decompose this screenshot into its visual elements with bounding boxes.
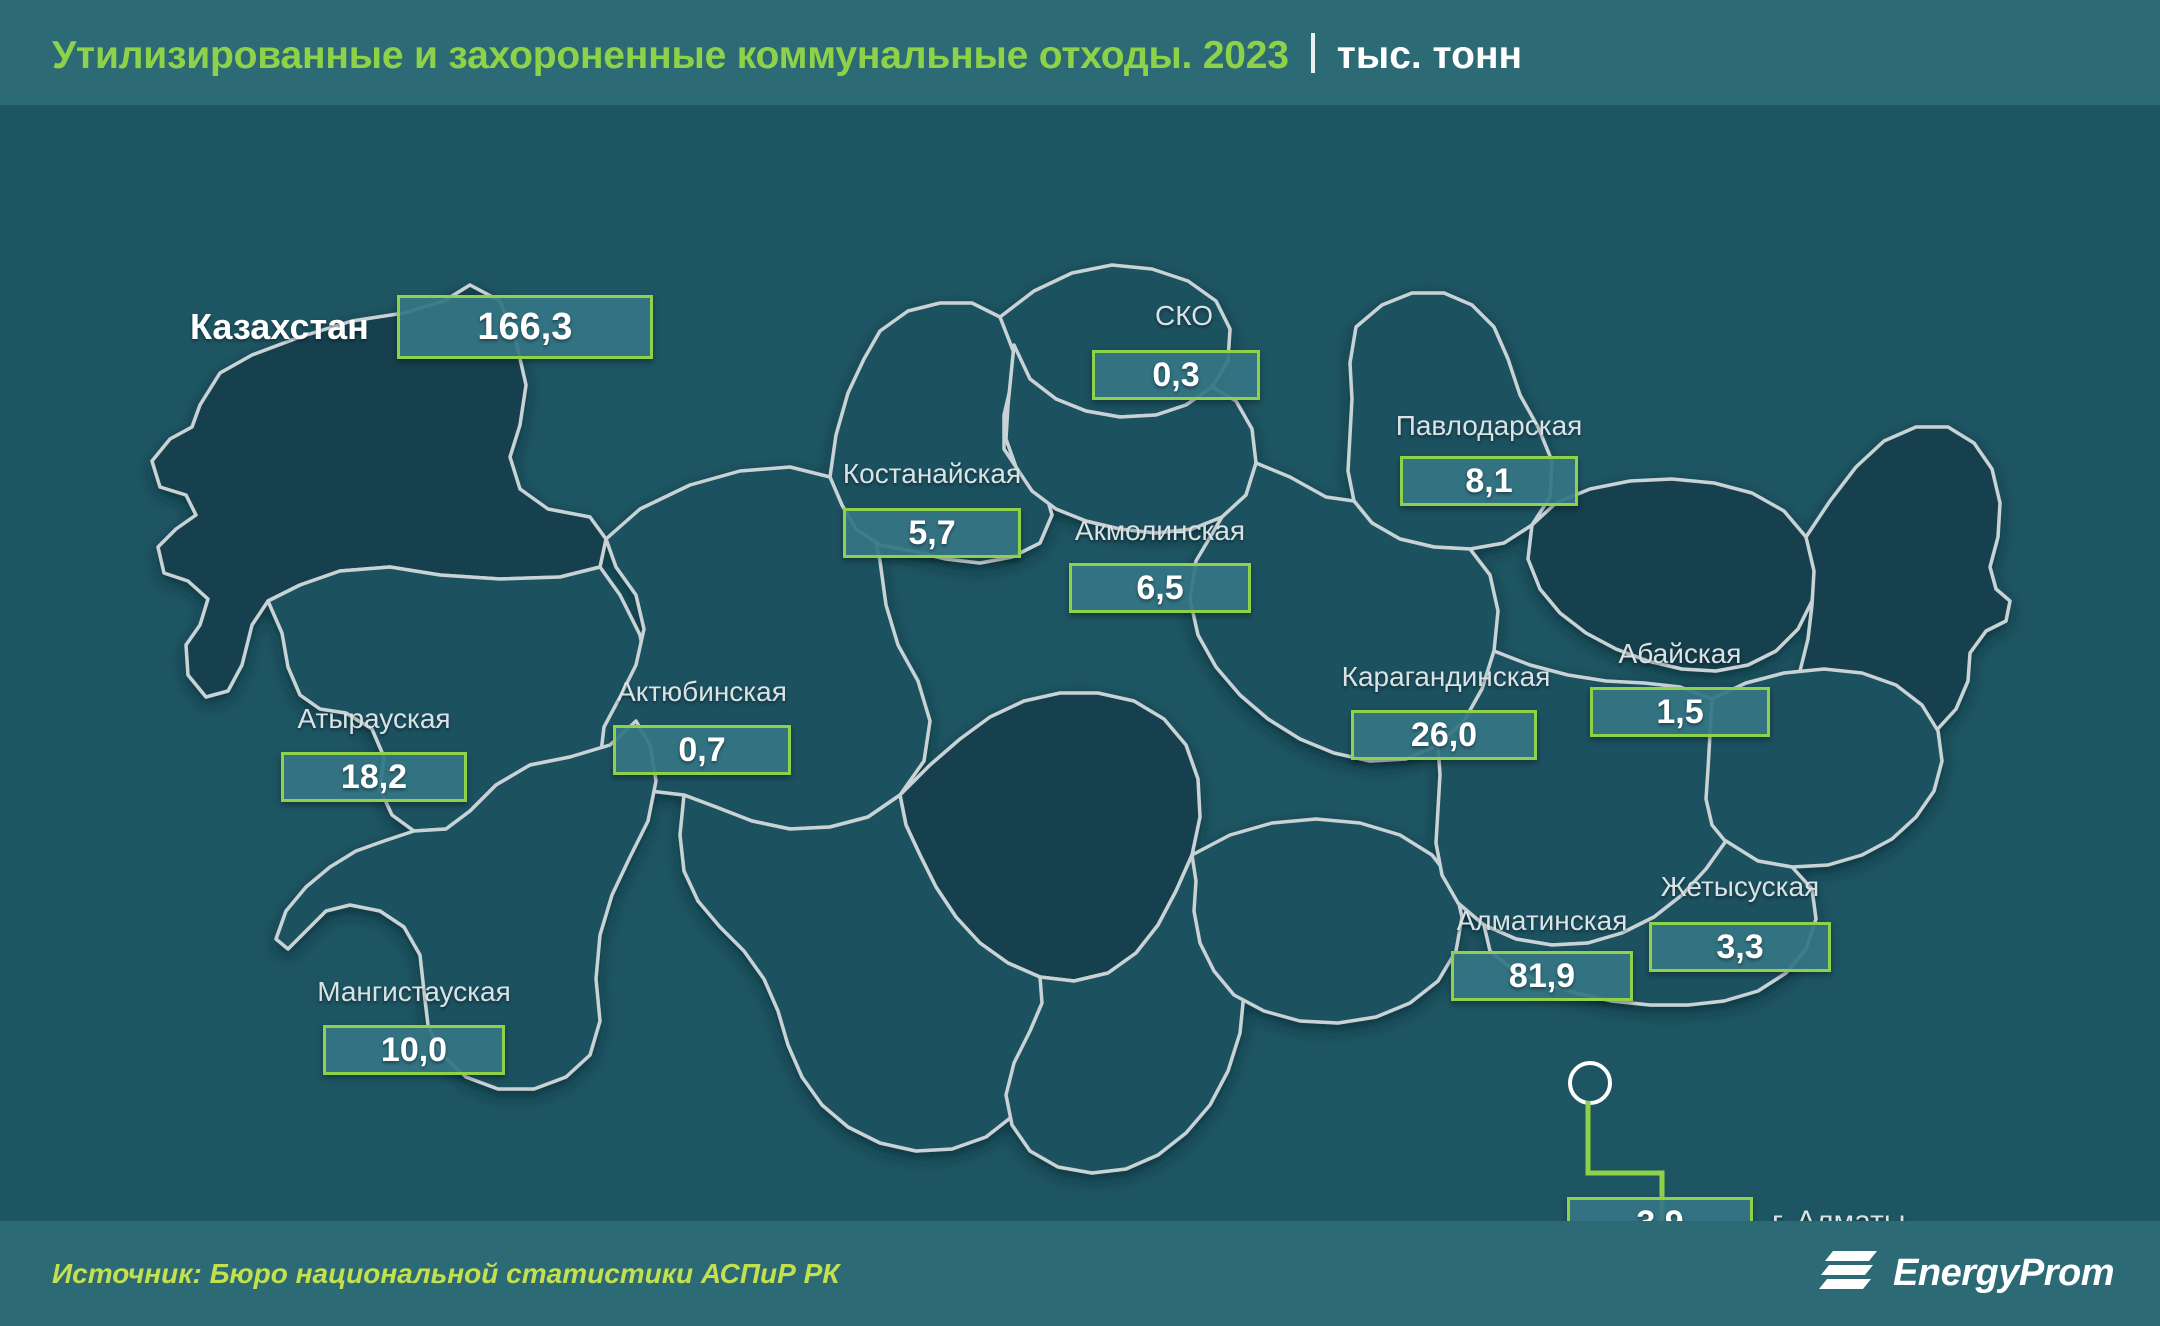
region-label-abay: Абайская [1619,638,1742,670]
infographic-page: Утилизированные и захороненные коммуналь… [0,0,2160,1326]
region-value-atyrau: 18,2 [281,752,467,802]
region-label-atyrau: Атырауская [297,703,450,735]
region-value-sko: 0,3 [1092,350,1260,400]
region-label-kostanay: Костанайская [843,458,1021,490]
brand-name: EnergyProm [1893,1252,2114,1295]
region-label-aktobe: Актюбинская [617,676,787,708]
region-value-zhetysu: 3,3 [1649,922,1831,972]
region-label-almaty-region: Алматинская [1457,905,1628,937]
footer-bar: Источник: Бюро национальной статистики А… [0,1221,2160,1326]
region-label-karaganda: Карагандинская [1342,661,1551,693]
brand-logo: EnergyProm [1819,1247,2114,1301]
country-label: Казахстан [190,306,369,348]
page-title: Утилизированные и захороненные коммуналь… [52,34,1289,78]
region-value-pavlodar: 8,1 [1400,456,1578,506]
header-title-group: Утилизированные и захороненные коммуналь… [52,28,1522,78]
title-unit: тыс. тонн [1337,34,1522,78]
region-value-almaty-city: 3,9 [1567,1197,1753,1221]
region-value-kostanay: 5,7 [843,508,1021,558]
region-value-abay: 1,5 [1590,687,1770,737]
region-label-almaty-city: г. Алматы [1772,1205,1905,1221]
energyprom-logo-icon [1819,1247,1879,1301]
country-value-box: 166,3 [397,295,653,359]
region-value-akmola: 6,5 [1069,563,1251,613]
region-value-aktobe: 0,7 [613,725,791,775]
region-label-akmola: Акмолинская [1075,515,1245,547]
title-separator [1311,33,1315,73]
source-text: Источник: Бюро национальной статистики А… [52,1258,839,1290]
region-label-mangystau: Мангистауская [317,976,511,1008]
region-label-zhetysu: Жетысуская [1661,871,1819,903]
region-label-sko: СКО [1155,300,1213,332]
region-shape-zhambyl [1192,819,1462,1023]
country-total-group: Казахстан 166,3 [190,295,653,359]
region-value-mangystau: 10,0 [323,1025,505,1075]
almaty-city-marker-icon [1568,1061,1612,1105]
map-body: Казахстан 166,3 СКО 0,3 Костанайская 5,7… [0,105,2160,1221]
region-label-pavlodar: Павлодарская [1396,410,1583,442]
header-bar: Утилизированные и захороненные коммуналь… [0,0,2160,105]
region-value-almaty-region: 81,9 [1451,951,1633,1001]
region-value-karaganda: 26,0 [1351,710,1537,760]
